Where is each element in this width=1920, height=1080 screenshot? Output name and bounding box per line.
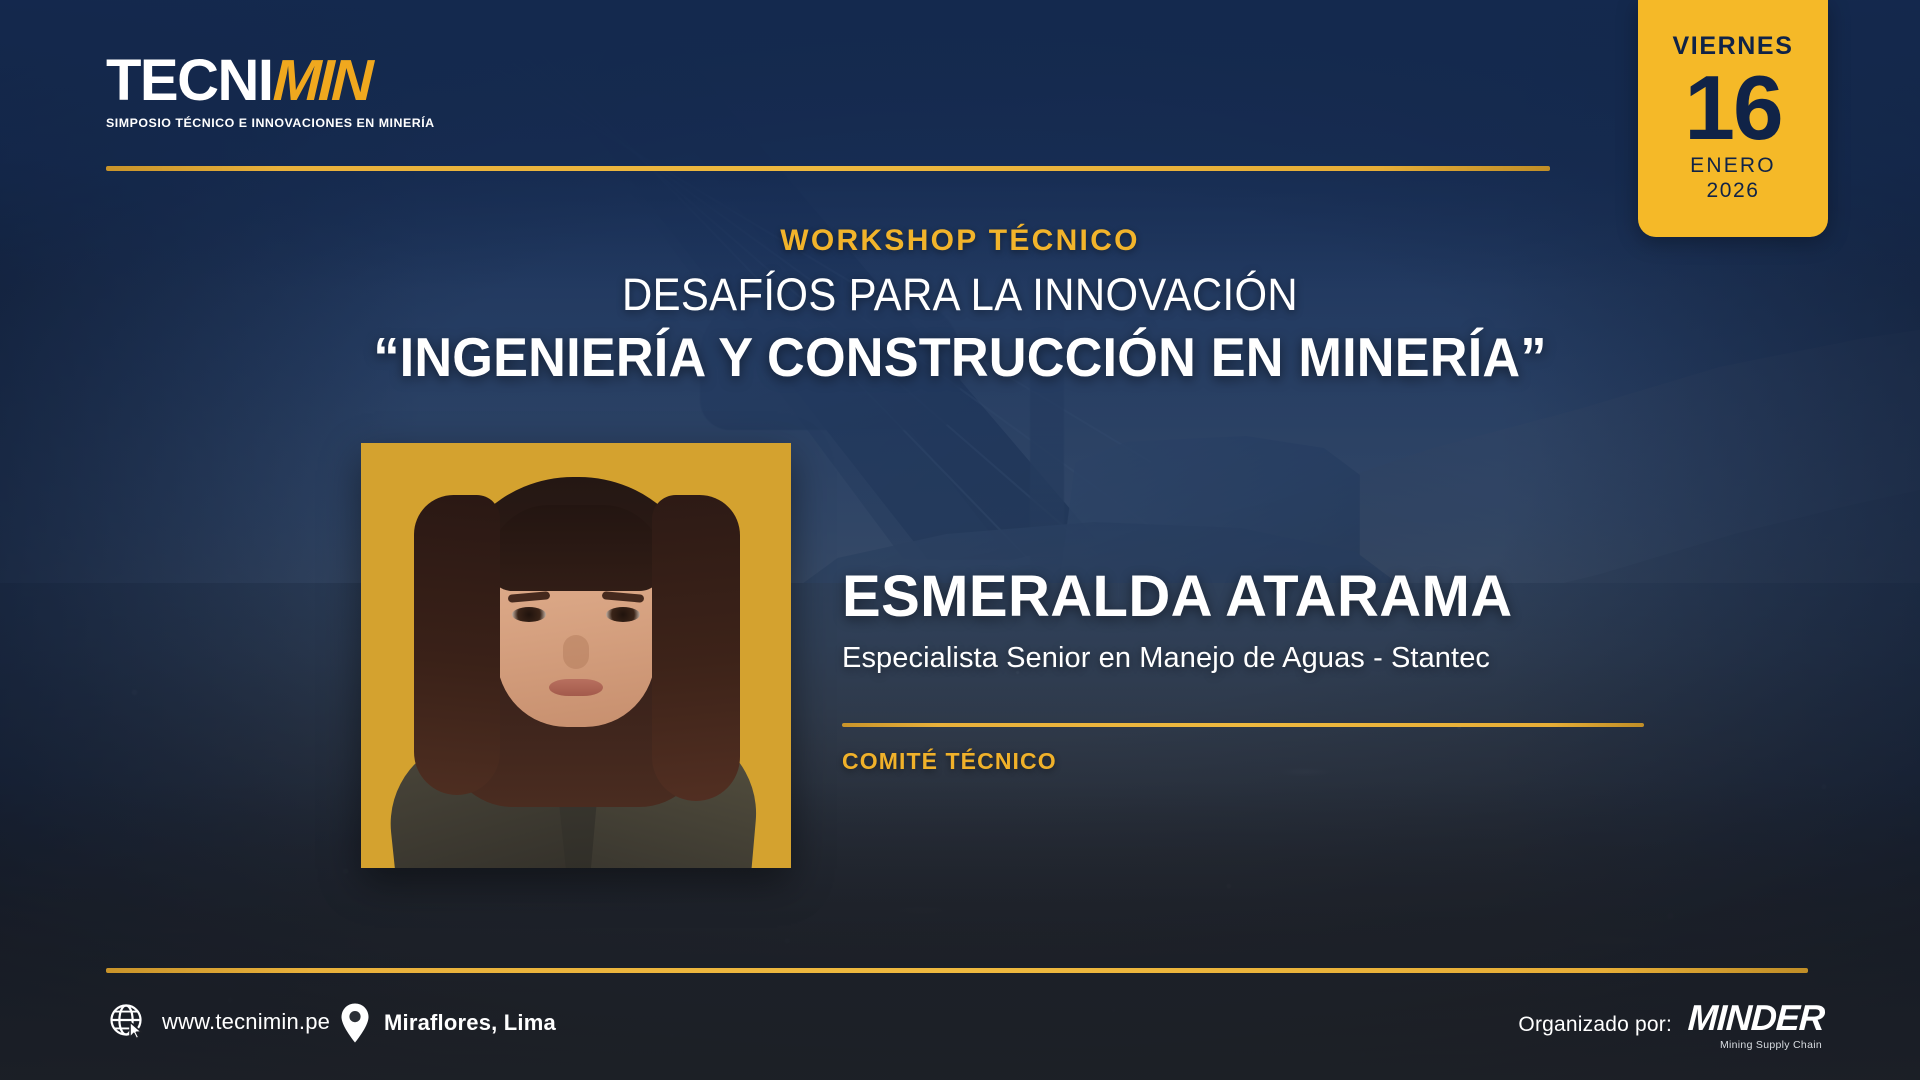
globe-cursor-icon	[108, 1002, 148, 1042]
minder-logo[interactable]: MINDER Mining Supply Chain	[1688, 1000, 1824, 1051]
website-url: www.tecnimin.pe	[162, 1009, 330, 1035]
tecnimin-logo[interactable]: TECNIMIN SIMPOSIO TÉCNICO E INNOVACIONES…	[106, 52, 435, 130]
website-link[interactable]: www.tecnimin.pe	[108, 1002, 330, 1042]
speaker-role: Especialista Senior en Manejo de Aguas -…	[842, 644, 1722, 673]
date-day-number: 16	[1684, 65, 1781, 152]
portrait-hair-left	[414, 495, 500, 795]
headline-title: “INGENIERÍA Y CONSTRUCCIÓN EN MINERÍA”	[48, 330, 1872, 385]
portrait-mouth	[549, 679, 603, 696]
speaker-photo	[361, 443, 791, 868]
header-divider	[106, 166, 1550, 171]
headline-subtitle: DESAFÍOS PARA LA INNOVACIÓN	[67, 272, 1853, 317]
speaker-committee-badge: COMITÉ TÉCNICO	[842, 748, 1057, 775]
location-text: Miraflores, Lima	[384, 1010, 556, 1036]
organizer-block: Organizado por: MINDER Mining Supply Cha…	[1518, 1000, 1824, 1051]
logo-wordmark: TECNIMIN	[106, 52, 435, 110]
date-day-of-week: VIERNES	[1673, 34, 1794, 59]
date-badge: VIERNES 16 ENERO 2026	[1638, 0, 1828, 237]
headline-kicker: WORKSHOP TÉCNICO	[0, 226, 1920, 256]
date-month: ENERO	[1690, 154, 1776, 178]
speaker-name: ESMERALDA ATARAMA	[842, 568, 1722, 626]
portrait-hair-right	[652, 495, 740, 801]
footer-bar: www.tecnimin.pe Miraflores, Lima Organiz…	[0, 1000, 1920, 1080]
logo-wordmark-accent: MIN	[271, 52, 370, 110]
headline-block: WORKSHOP TÉCNICO DESAFÍOS PARA LA INNOVA…	[0, 226, 1920, 385]
minder-wordmark: MINDER	[1687, 1000, 1825, 1036]
speaker-info: ESMERALDA ATARAMA Especialista Senior en…	[842, 568, 1722, 673]
footer-divider	[106, 968, 1808, 973]
map-pin-icon	[340, 1002, 370, 1044]
portrait-eye-left	[512, 607, 546, 622]
location-info: Miraflores, Lima	[340, 1002, 556, 1044]
minder-tagline: Mining Supply Chain	[1720, 1040, 1822, 1051]
portrait-nose	[563, 635, 589, 669]
speaker-divider	[842, 723, 1644, 727]
logo-wordmark-primary: TECNI	[106, 52, 273, 110]
date-year: 2026	[1706, 178, 1759, 203]
portrait-hair-fringe	[488, 505, 664, 591]
portrait-eye-right	[606, 607, 640, 622]
event-poster: TECNIMIN SIMPOSIO TÉCNICO E INNOVACIONES…	[0, 0, 1920, 1080]
logo-tagline: SIMPOSIO TÉCNICO E INNOVACIONES EN MINER…	[106, 116, 435, 130]
organized-by-label: Organizado por:	[1518, 1013, 1672, 1037]
